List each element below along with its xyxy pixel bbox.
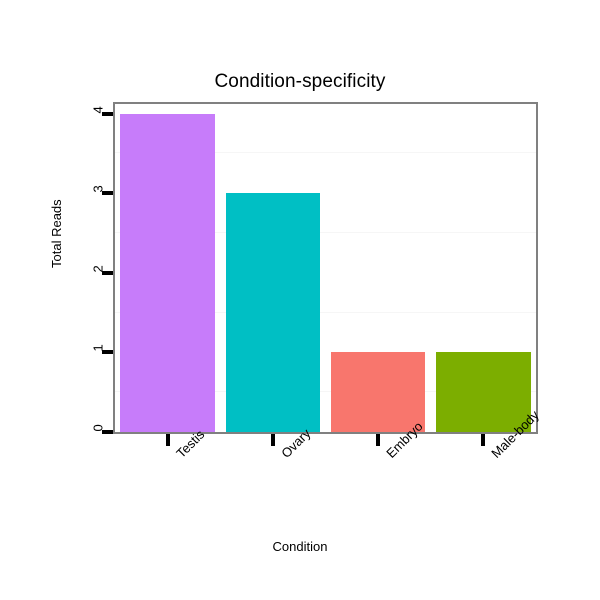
bar-testis xyxy=(120,114,215,432)
x-tick-mark xyxy=(271,434,275,446)
x-tick-label: Embryo xyxy=(384,451,394,461)
x-tick-label: Testis xyxy=(174,451,184,461)
x-tick-mark xyxy=(481,434,485,446)
bar-ovary xyxy=(226,193,321,432)
x-tick-label: Male-body xyxy=(489,451,499,461)
x-axis-title: Condition xyxy=(0,539,600,554)
chart-title: Condition-specificity xyxy=(0,71,600,93)
x-tick-mark xyxy=(376,434,380,446)
bar-embryo xyxy=(331,352,426,432)
x-tick-label: Ovary xyxy=(279,451,289,461)
bar-male-body xyxy=(436,352,531,432)
y-axis-title: Total Reads xyxy=(50,199,64,268)
chart-figure: Condition-specificity 01234 Total Reads … xyxy=(0,0,600,600)
plot-panel xyxy=(113,102,538,434)
x-tick-mark xyxy=(166,434,170,446)
